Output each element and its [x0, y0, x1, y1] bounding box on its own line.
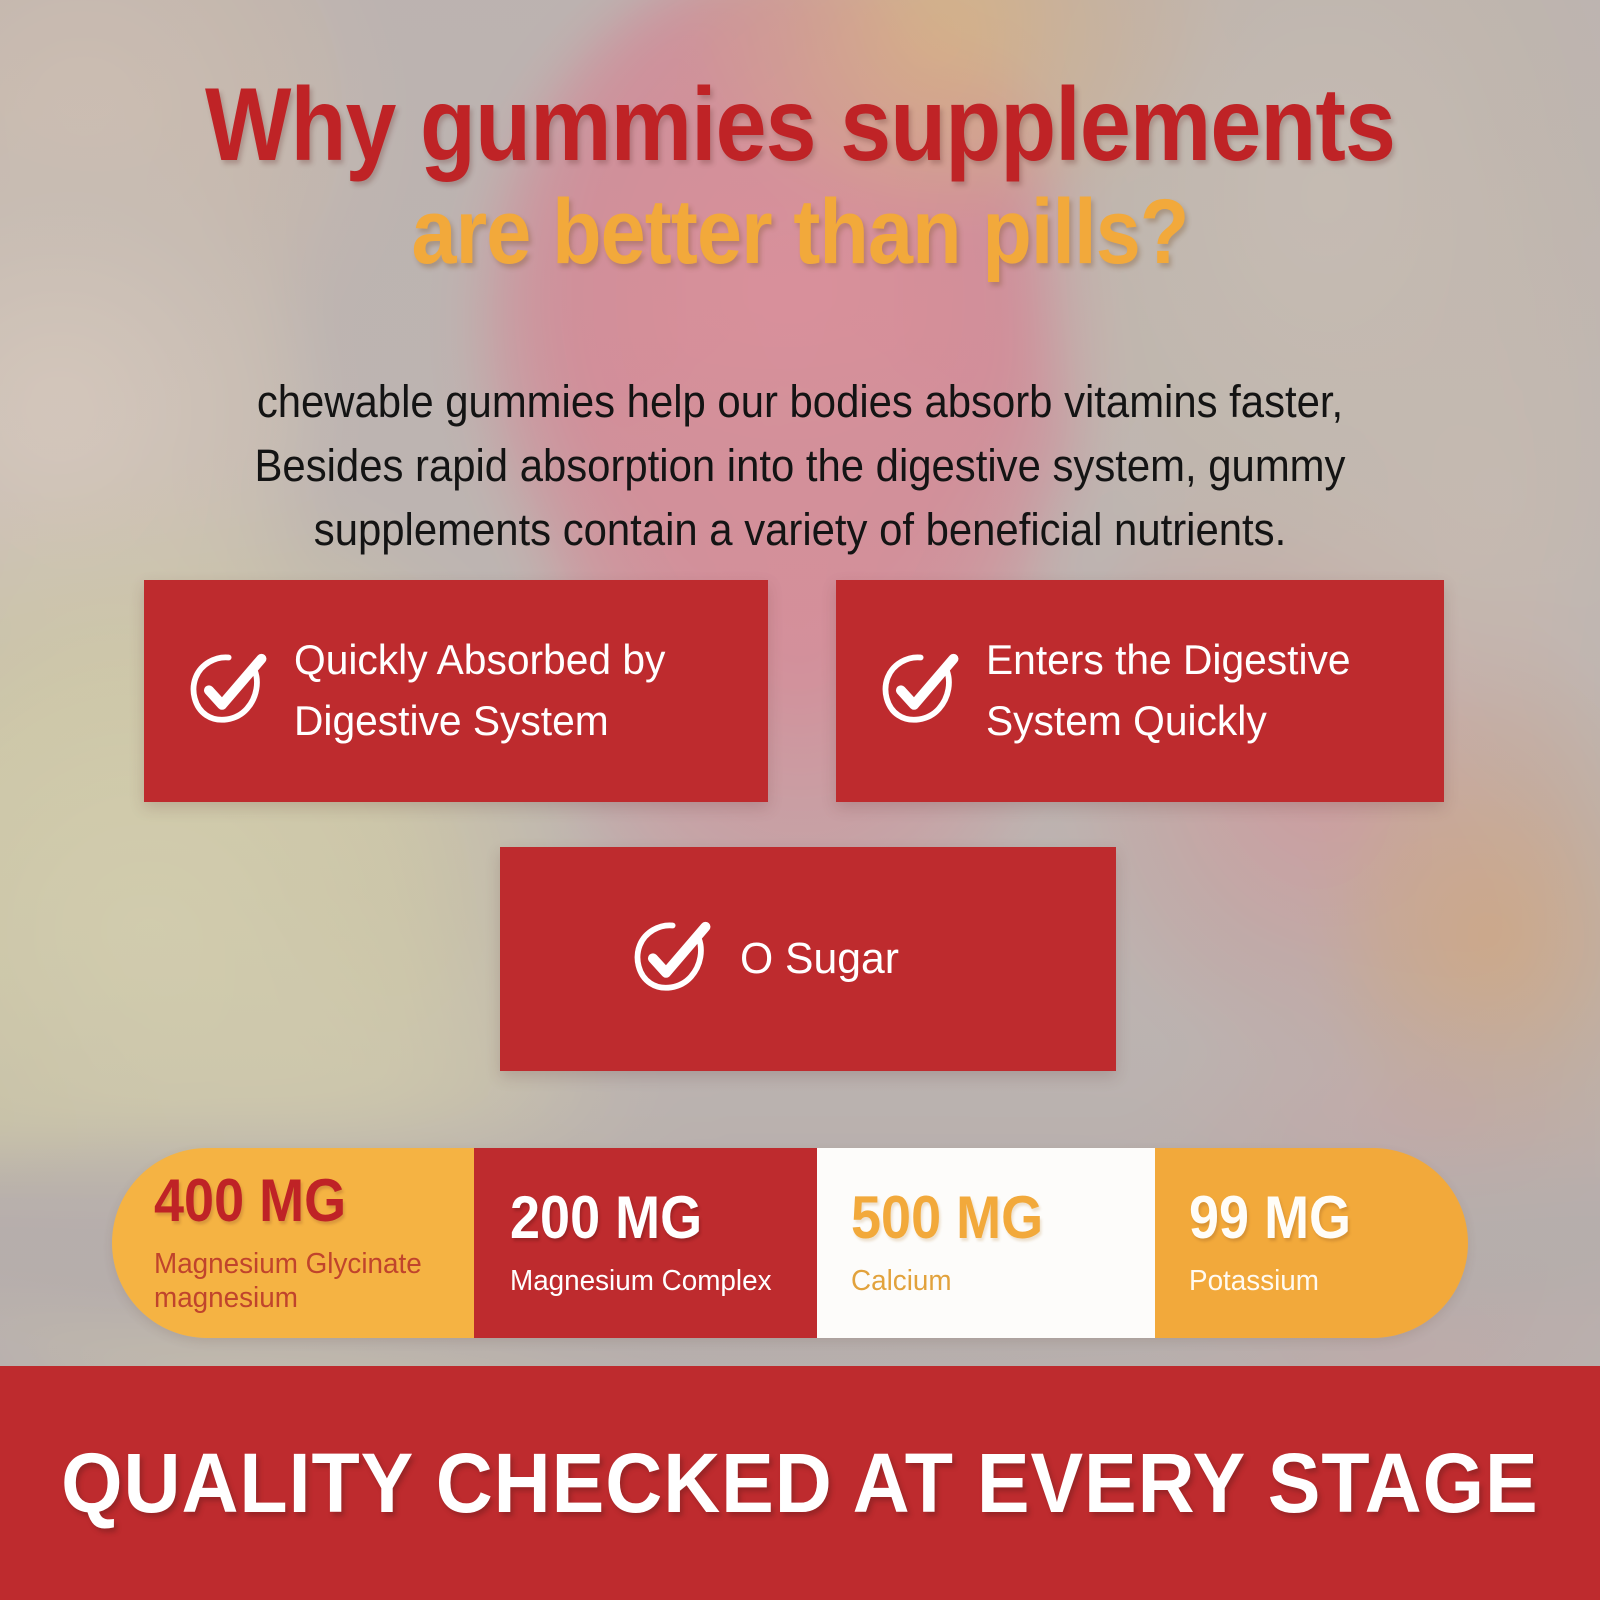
- feature-label: O Sugar: [740, 927, 899, 991]
- nutrient-dosage-bar: 400 MG Magnesium Glycinate magnesium 200…: [112, 1148, 1468, 1338]
- intro-paragraph: chewable gummies help our bodies absorb …: [196, 370, 1405, 562]
- nutrient-amount: 400 MG: [154, 1171, 442, 1231]
- check-circle-icon: [628, 915, 712, 1004]
- nutrient-amount: 99 MG: [1189, 1188, 1440, 1248]
- nutrient-name: Potassium: [1189, 1264, 1457, 1298]
- feature-label: Enters the Digestive System Quickly: [986, 630, 1430, 752]
- feature-label: Quickly Absorbed by Digestive System: [294, 630, 754, 752]
- nutrient-segment-calcium: 500 MG Calcium: [817, 1148, 1155, 1338]
- headline-line-2: are better than pills?: [96, 185, 1504, 280]
- headline-line-1: Why gummies supplements: [96, 72, 1504, 179]
- nutrient-segment-magnesium-complex: 200 MG Magnesium Complex: [474, 1148, 817, 1338]
- infographic-poster: Why gummies supplements are better than …: [0, 0, 1600, 1600]
- nutrient-amount: 200 MG: [510, 1188, 786, 1248]
- nutrient-name: Magnesium Complex: [510, 1264, 805, 1298]
- nutrient-segment-magnesium-glycinate: 400 MG Magnesium Glycinate magnesium: [112, 1148, 474, 1338]
- page-title: Why gummies supplements are better than …: [0, 72, 1600, 280]
- feature-card-enters-digestive-system[interactable]: Enters the Digestive System Quickly: [836, 580, 1444, 802]
- nutrient-name: Calcium: [851, 1264, 1143, 1298]
- feature-card-no-sugar[interactable]: O Sugar: [500, 847, 1116, 1071]
- feature-card-quickly-absorbed[interactable]: Quickly Absorbed by Digestive System: [144, 580, 768, 802]
- quality-banner: QUALITY CHECKED AT EVERY STAGE: [0, 1366, 1600, 1600]
- nutrient-name: Magnesium Glycinate magnesium: [154, 1247, 461, 1315]
- quality-banner-text: QUALITY CHECKED AT EVERY STAGE: [61, 1435, 1538, 1532]
- nutrient-segment-potassium: 99 MG Potassium: [1155, 1148, 1468, 1338]
- check-circle-icon: [184, 647, 268, 736]
- check-circle-icon: [876, 647, 960, 736]
- nutrient-amount: 500 MG: [851, 1188, 1125, 1248]
